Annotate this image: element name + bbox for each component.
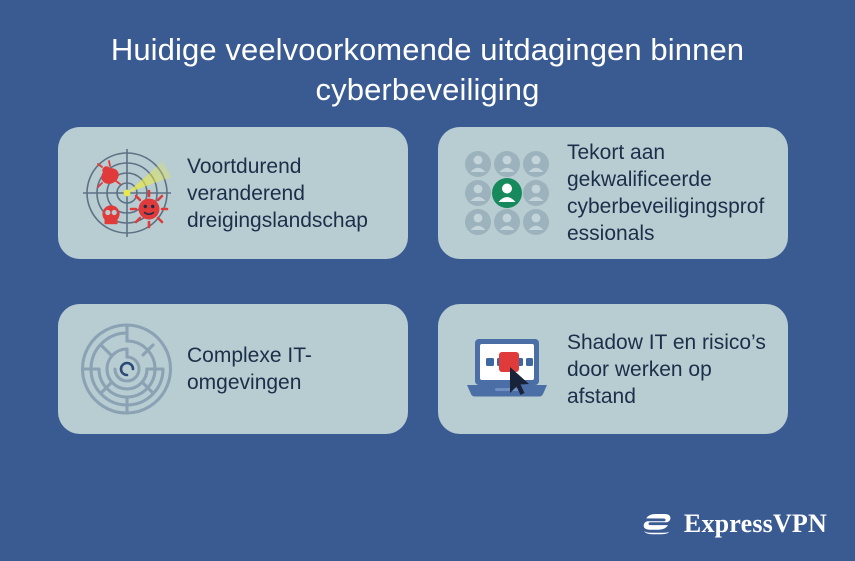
card-shadow-it-remote-work[interactable]: Shadow IT en risico’s door werken op afs… xyxy=(438,304,788,434)
challenge-cards-grid: Voortdurend veranderend dreigingslandsch… xyxy=(58,127,788,479)
card-label: Voortdurend veranderend dreigingslandsch… xyxy=(179,153,394,234)
laptop-cursor-icon xyxy=(454,317,559,422)
maze-icon xyxy=(74,317,179,422)
expressvpn-logo-icon xyxy=(641,507,675,541)
card-skills-shortage[interactable]: Tekort aan gekwalificeerde cyberbeveilig… xyxy=(438,127,788,259)
page-title: Huidige veelvoorkomende uitdagingen binn… xyxy=(55,30,800,110)
expressvpn-logo: ExpressVPN xyxy=(641,507,827,541)
radar-threats-icon xyxy=(74,141,179,246)
card-label: Tekort aan gekwalificeerde cyberbeveilig… xyxy=(559,139,774,247)
expressvpn-wordmark: ExpressVPN xyxy=(684,509,827,539)
card-complex-it-environments[interactable]: Complexe IT-omgevingen xyxy=(58,304,408,434)
card-label: Shadow IT en risico’s door werken op afs… xyxy=(559,329,774,410)
people-grid-icon xyxy=(454,141,559,246)
card-row-bottom: Complexe IT-omgevingen xyxy=(58,304,788,434)
card-row-top: Voortdurend veranderend dreigingslandsch… xyxy=(58,127,788,259)
infographic-slide: Huidige veelvoorkomende uitdagingen binn… xyxy=(0,0,855,561)
card-evolving-threat-landscape[interactable]: Voortdurend veranderend dreigingslandsch… xyxy=(58,127,408,259)
card-label: Complexe IT-omgevingen xyxy=(179,342,394,396)
